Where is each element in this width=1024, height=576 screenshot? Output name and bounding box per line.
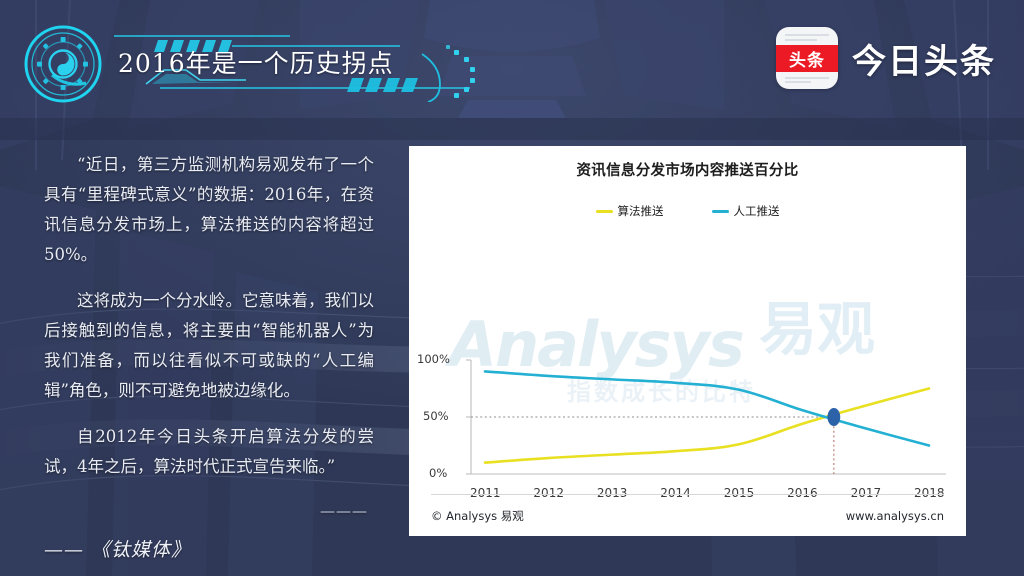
website-label[interactable]: www.analysys.cn — [846, 509, 944, 523]
toutiao-mark-text: 头条 — [776, 45, 838, 72]
quote-attribution: —— 《钛媒体》 — [44, 533, 374, 568]
quote-body: “近日，第三方监测机构易观发布了一个具有“里程碑式意义”的数据：2016年，在资… — [44, 150, 374, 568]
copyright-label: © Analysys 易观 — [431, 508, 524, 524]
chart-card: 资讯信息分发市场内容推送百分比 算法推送 人工推送 Analysys 易观 指数… — [409, 146, 966, 536]
quote-paragraph-2: 这将成为一个分水岭。它意味着，我们以后接触到的信息，将主要由“智能机器人”为我们… — [44, 286, 374, 406]
quote-paragraph-1: “近日，第三方监测机构易观发布了一个具有“里程碑式意义”的数据：2016年，在资… — [44, 150, 374, 270]
toutiao-app-icon: 头条 — [776, 27, 838, 89]
quote-paragraph-3: 自2012年今日头条开启算法分发的尝试，4年之后，算法时代正式宣告来临。” — [44, 422, 374, 482]
series-line-0 — [485, 389, 929, 463]
tech-circle-emblem-icon — [22, 23, 104, 105]
icon-bottom-lines — [785, 74, 829, 83]
hud-arc-deco-icon — [330, 40, 490, 102]
quote-rule: ——— — [44, 498, 368, 525]
crossover-marker — [827, 408, 840, 426]
toutiao-wordmark: 今日头条 — [852, 34, 996, 83]
series-line-1 — [485, 371, 929, 445]
chart-plot-area — [409, 146, 966, 536]
toutiao-logo: 头条 今日头条 — [776, 27, 996, 89]
icon-top-lines — [785, 34, 829, 43]
chart-card-footer: © Analysys 易观 www.analysys.cn — [431, 494, 944, 536]
